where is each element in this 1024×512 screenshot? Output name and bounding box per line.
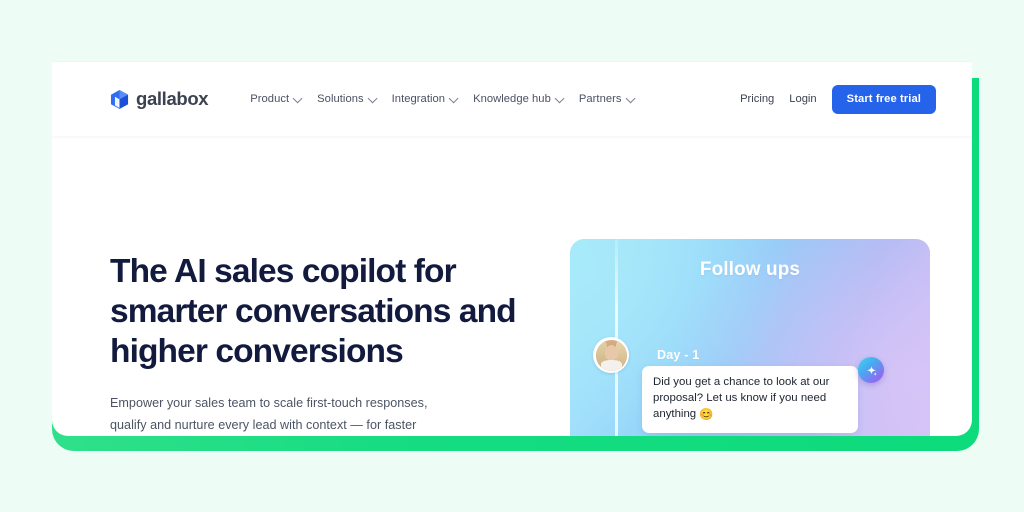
hero-section: The AI sales copilot for smarter convers… xyxy=(52,136,972,436)
chevron-down-icon xyxy=(449,93,459,103)
nav-link-pricing[interactable]: Pricing xyxy=(740,93,774,105)
main-navigation: Product Solutions Integration Knowledge … xyxy=(250,93,632,105)
hero-text-column: The AI sales copilot for smarter convers… xyxy=(110,252,530,436)
hero-subheadline: Empower your sales team to scale first-t… xyxy=(110,393,462,436)
nav-item-solutions[interactable]: Solutions xyxy=(317,93,374,105)
nav-link-login[interactable]: Login xyxy=(789,93,816,105)
page-title: The AI sales copilot for smarter convers… xyxy=(110,252,530,372)
chevron-down-icon xyxy=(625,93,635,103)
page-frame: gallabox Product Solutions Integration K… xyxy=(0,0,1024,512)
chevron-down-icon xyxy=(367,93,377,103)
user-avatar-photo xyxy=(596,340,627,371)
nav-item-product[interactable]: Product xyxy=(250,93,300,105)
message-text: Did you get a chance to look at our prop… xyxy=(653,376,829,420)
nav-item-label: Product xyxy=(250,93,289,105)
nav-item-partners[interactable]: Partners xyxy=(579,93,633,105)
website-card: gallabox Product Solutions Integration K… xyxy=(52,62,972,436)
chevron-down-icon xyxy=(554,93,564,103)
chevron-down-icon xyxy=(293,93,303,103)
navbar: gallabox Product Solutions Integration K… xyxy=(52,62,972,136)
nav-item-label: Partners xyxy=(579,93,622,105)
followups-panel: Follow ups Day - 1 Did you get a xyxy=(570,239,930,436)
message-bubble: Did you get a chance to look at our prop… xyxy=(642,366,858,433)
smile-emoji-icon: 😊 xyxy=(699,409,713,421)
followups-panel-title: Follow ups xyxy=(570,259,930,281)
start-free-trial-button[interactable]: Start free trial xyxy=(832,85,936,114)
cube-logo-icon xyxy=(110,89,129,110)
avatar-body xyxy=(601,360,622,371)
nav-item-integration[interactable]: Integration xyxy=(392,93,456,105)
brand-name: gallabox xyxy=(136,88,208,110)
nav-item-label: Knowledge hub xyxy=(473,93,551,105)
avatar-face xyxy=(605,345,618,361)
nav-item-label: Integration xyxy=(392,93,445,105)
brand-logo[interactable]: gallabox xyxy=(110,88,208,110)
nav-item-label: Solutions xyxy=(317,93,363,105)
navbar-actions: Pricing Login Start free trial xyxy=(740,85,936,114)
ai-sparkle-icon[interactable] xyxy=(858,357,884,383)
nav-item-knowledge-hub[interactable]: Knowledge hub xyxy=(473,93,562,105)
timeline-label-day-1: Day - 1 xyxy=(657,348,699,362)
avatar xyxy=(593,337,629,373)
